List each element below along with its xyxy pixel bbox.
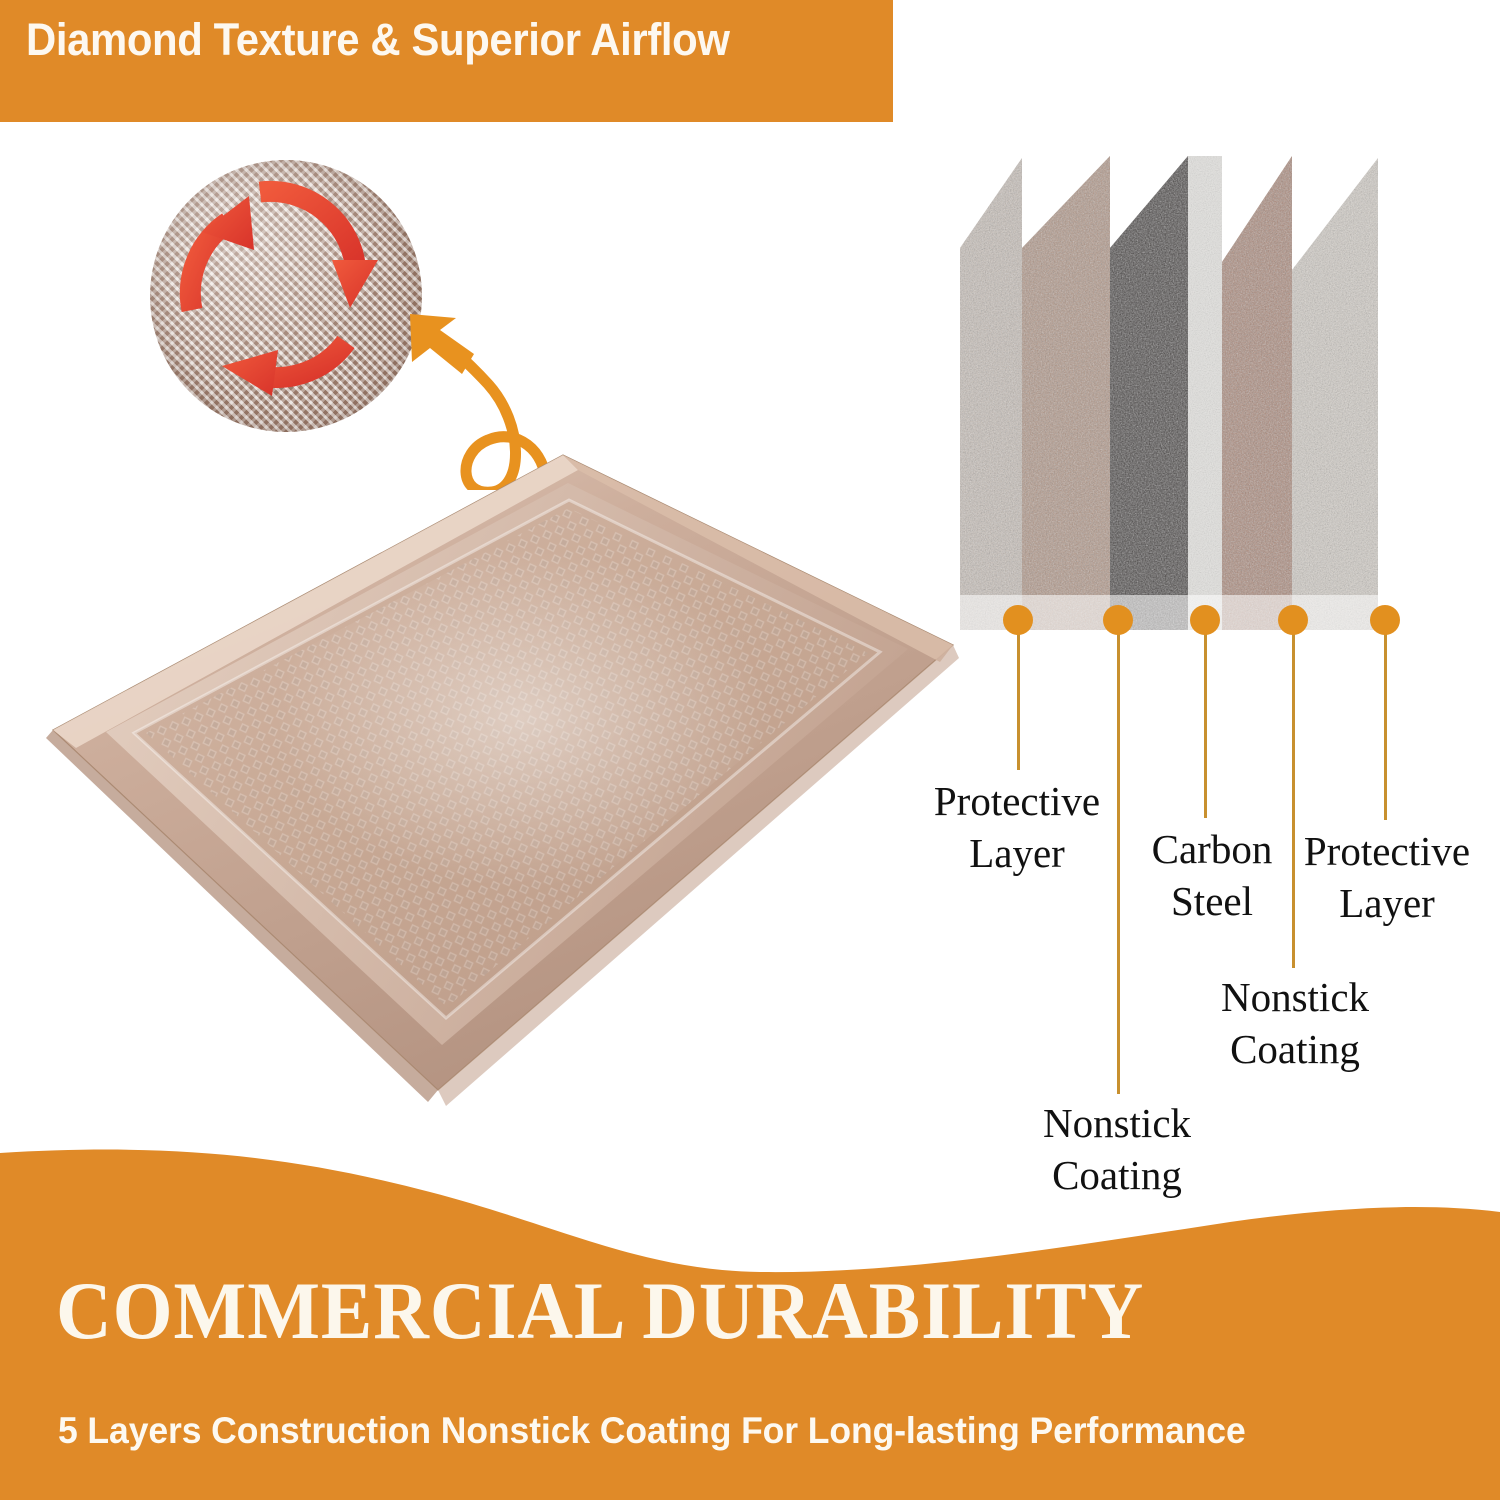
infographic-canvas: Diamond Texture & Superior Airflow [0,0,1500,1500]
airflow-arrows-icon [150,160,422,432]
band-nonstick-inner [1222,156,1292,630]
band-protective-outer [960,158,1022,630]
callout-dot-nonstick-coating-2 [1278,605,1308,635]
band-steel-sheet [1188,156,1222,630]
band-nonstick-outer [1022,156,1110,630]
callout-dot-protective-layer-2 [1370,605,1400,635]
footer-subtitle: 5 Layers Construction Nonstick Coating F… [58,1410,1402,1452]
five-layer-cross-section [960,140,1500,630]
callout-label-protective-layer-2: Protective Layer [1290,826,1484,929]
callout-leader-line-nonstick-coating-1 [1117,633,1120,1094]
diamond-texture-closeup-circle [150,160,422,432]
callout-label-protective-layer-1: Protective Layer [922,776,1112,879]
callout-leader-line-carbon-steel [1204,633,1207,818]
callout-dot-nonstick-coating-1 [1103,605,1133,635]
baking-sheet-pan [18,430,978,1130]
callout-leader-line-protective-layer-2 [1384,633,1387,820]
footer-title: COMMERCIAL DURABILITY [56,1264,1278,1358]
band-protective-inner [1292,158,1378,630]
callout-dot-carbon-steel [1190,605,1220,635]
header-title: Diamond Texture & Superior Airflow [26,14,826,66]
callout-leader-line-protective-layer-1 [1017,633,1020,770]
band-carbon-steel [1110,156,1188,630]
callout-label-nonstick-coating-2: Nonstick Coating [1200,972,1390,1075]
callout-dot-protective-layer-1 [1003,605,1033,635]
callout-label-carbon-steel: Carbon Steel [1130,824,1294,927]
